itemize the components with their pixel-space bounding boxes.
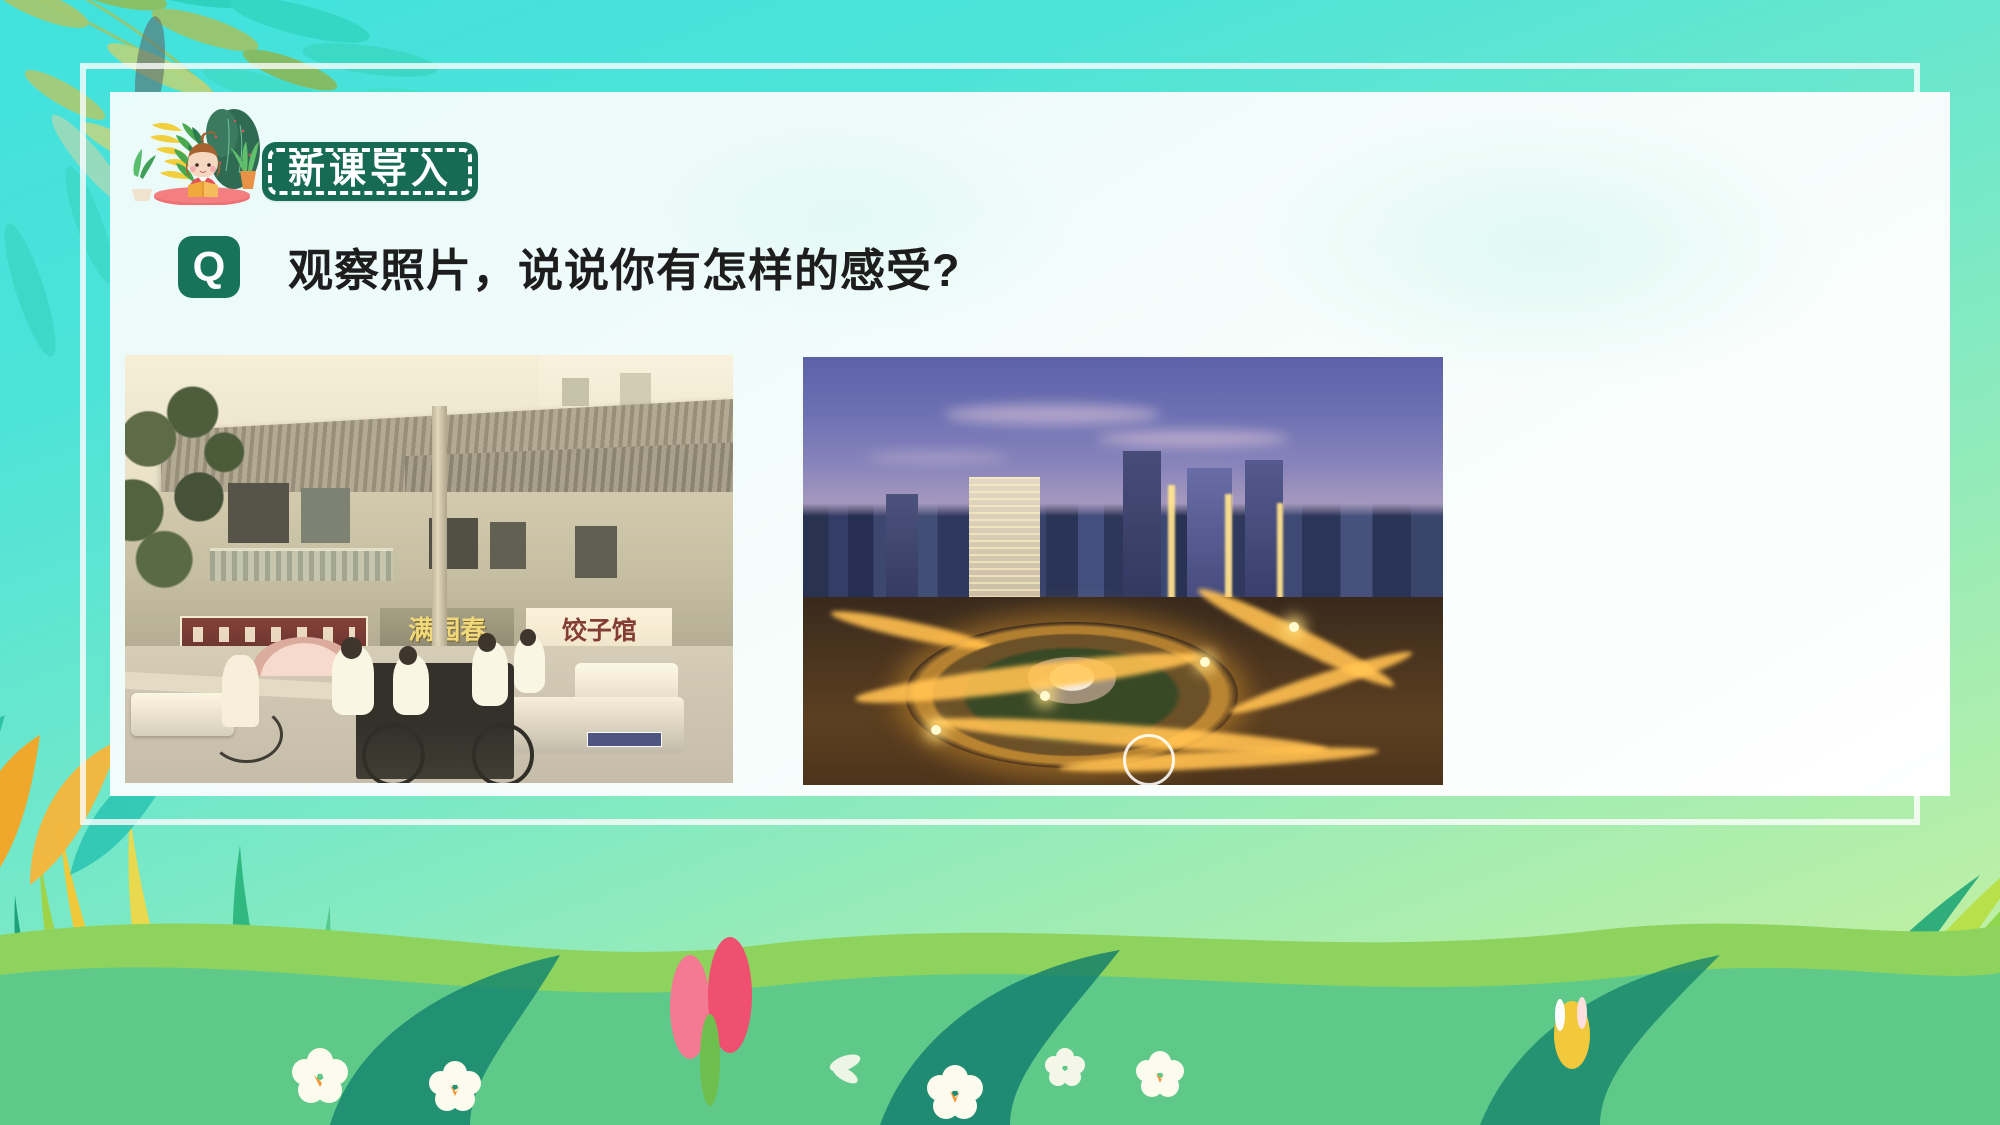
old-photo-window — [301, 488, 350, 544]
bottom-flower-banner-decor — [0, 825, 2000, 1125]
old-photo-trishaw-wheel — [472, 723, 535, 783]
old-photo-pedestrian-head — [520, 629, 536, 646]
question-marker-badge: Q — [178, 236, 240, 298]
old-street-photo-canvas: 满园春 饺子馆 — [125, 355, 733, 783]
question-text: 观察照片，说说你有怎样的感受? — [288, 234, 961, 299]
section-badge-label: 新课导入 — [288, 152, 452, 189]
old-photo-pedestrian-head — [478, 633, 496, 652]
old-photo-license-plate — [587, 732, 662, 748]
modern-city-photo-canvas — [803, 357, 1443, 785]
old-photo-trishaw-wheel — [362, 723, 425, 783]
old-photo-tree — [125, 372, 259, 595]
city-photo-cloud — [1097, 430, 1289, 447]
old-photo-pedestrian-head — [341, 637, 362, 658]
old-photo-pedestrian-head — [399, 646, 417, 665]
shop-sign-char-1: 满园春 — [408, 610, 486, 647]
city-photo-street-lamp-flare — [1040, 691, 1050, 701]
girl-reading-book-illustration — [130, 97, 280, 205]
city-photo-street-lamp-flare — [1200, 657, 1210, 667]
question-row: Q 观察照片，说说你有怎样的感受? — [178, 234, 961, 299]
city-photo-cloud — [867, 451, 1008, 464]
old-photo-bicycle — [210, 706, 283, 763]
old-street-photo[interactable]: 满园春 饺子馆 — [125, 355, 733, 783]
old-photo-white-shop-sign: 饺子馆 — [526, 608, 672, 651]
section-header: 新课导入 — [130, 95, 478, 205]
shop-sign-char-2: 饺子馆 — [562, 611, 637, 647]
modern-city-photo[interactable] — [803, 357, 1443, 785]
section-badge[interactable]: 新课导入 — [262, 142, 478, 201]
city-photo-ferris-wheel — [1123, 734, 1175, 785]
slide-root: 新课导入 Q 观察照片，说说你有怎样的感受? 满园春 饺子馆 — [0, 0, 2000, 1125]
old-photo-window — [490, 522, 526, 569]
old-photo-window — [575, 526, 618, 577]
